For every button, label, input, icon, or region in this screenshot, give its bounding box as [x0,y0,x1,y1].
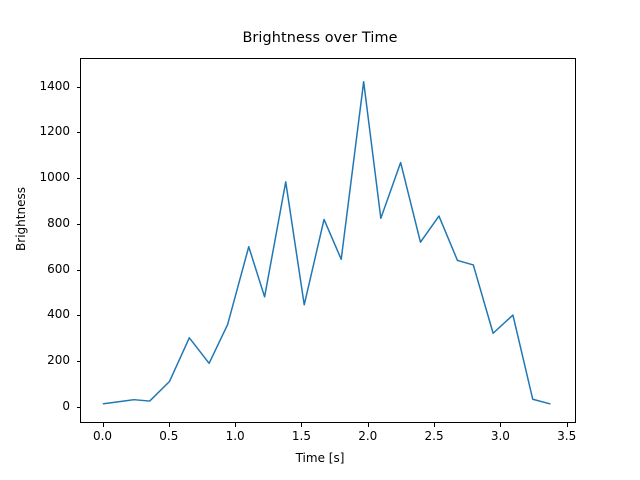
x-tick-label: 3.0 [465,429,535,443]
brightness-line [103,82,549,404]
y-tick-label: 600 [0,262,70,276]
matplotlib-figure: Brightness over Time 0.00.51.01.52.02.53… [0,0,640,480]
x-tick-mark [434,423,435,427]
y-tick-label: 1400 [0,79,70,93]
y-tick-mark [77,407,81,408]
y-tick-label: 200 [0,353,70,367]
y-tick-mark [77,270,81,271]
x-tick-mark [301,423,302,427]
x-tick-mark [368,423,369,427]
y-tick-mark [77,361,81,362]
x-tick-mark [500,423,501,427]
x-axis-label: Time [s] [0,451,640,465]
x-tick-mark [103,423,104,427]
y-tick-label: 1200 [0,124,70,138]
x-tick-mark [235,423,236,427]
y-tick-label: 1000 [0,170,70,184]
y-tick-mark [77,132,81,133]
x-tick-label: 2.0 [333,429,403,443]
y-tick-mark [77,178,81,179]
x-tick-mark [567,423,568,427]
x-tick-mark [169,423,170,427]
x-tick-label: 1.0 [200,429,270,443]
y-axis-label: Brightness [14,119,28,319]
y-tick-mark [77,315,81,316]
y-tick-label: 0 [0,399,70,413]
y-tick-label: 400 [0,307,70,321]
x-tick-label: 0.0 [68,429,138,443]
y-tick-mark [77,87,81,88]
y-tick-label: 800 [0,216,70,230]
x-tick-label: 0.5 [134,429,204,443]
x-tick-label: 3.5 [532,429,602,443]
plot-axes [80,58,576,423]
chart-title: Brightness over Time [0,30,640,46]
x-tick-label: 1.5 [266,429,336,443]
y-tick-mark [77,224,81,225]
line-series-svg [81,59,575,422]
x-tick-label: 2.5 [399,429,469,443]
